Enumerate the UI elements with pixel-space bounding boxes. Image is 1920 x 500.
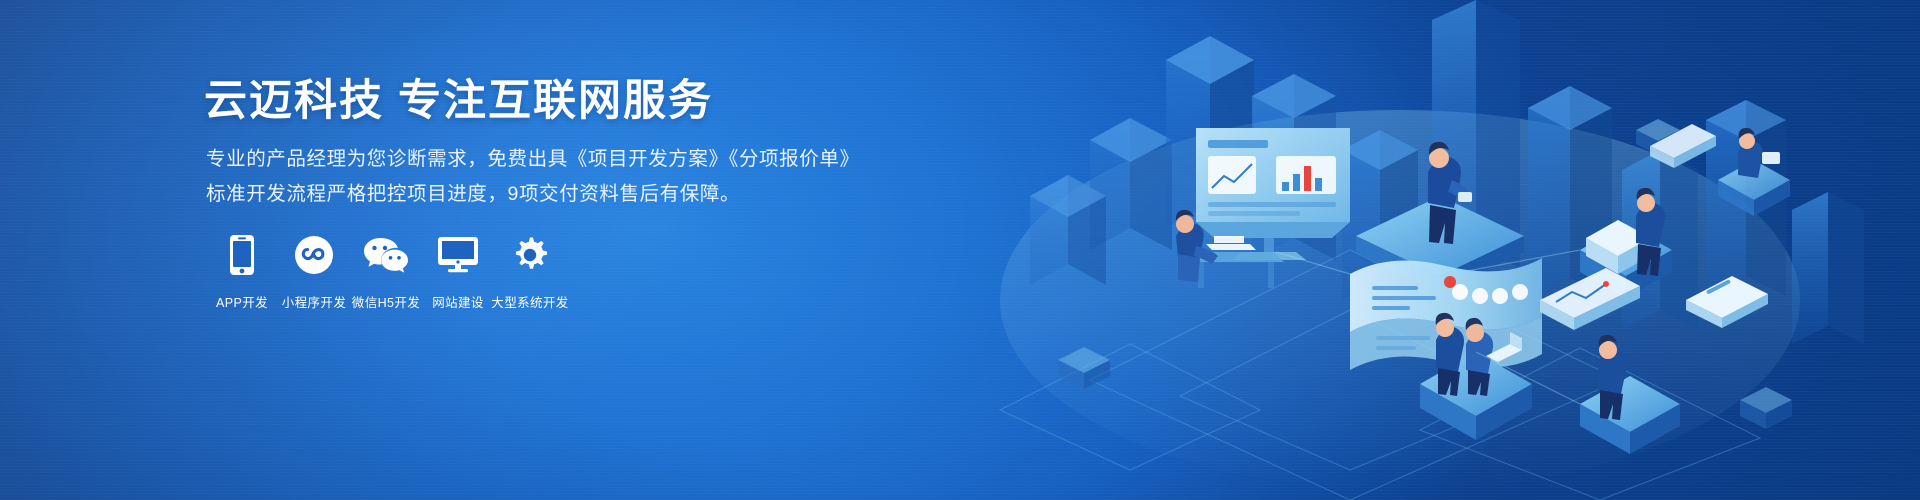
service-label: 大型系统开发 bbox=[491, 292, 568, 311]
service-item-website[interactable]: 网站建设 bbox=[422, 232, 494, 311]
service-label: 微信H5开发 bbox=[352, 292, 420, 311]
service-item-large-system[interactable]: 大型系统开发 bbox=[494, 232, 566, 311]
banner-subtitle-line-2: 标准开发流程严格把控项目进度，9项交付资料售后有保障。 bbox=[206, 183, 740, 206]
banner-content: 云迈科技 专注互联网服务 专业的产品经理为您诊断需求，免费出具《项目开发方案》《… bbox=[204, 0, 964, 500]
monitor-icon bbox=[437, 232, 479, 278]
service-item-mini-program[interactable]: 小程序开发 bbox=[278, 232, 350, 311]
mobile-phone-icon bbox=[229, 232, 255, 278]
mini-program-icon bbox=[294, 232, 334, 278]
banner-subtitle-line-1: 专业的产品经理为您诊断需求，免费出具《项目开发方案》《分项报价单》 bbox=[206, 148, 860, 171]
service-label: 小程序开发 bbox=[282, 292, 347, 311]
service-item-wechat-h5[interactable]: 微信H5开发 bbox=[350, 232, 422, 311]
service-list: APP开发 小程序开发 bbox=[206, 232, 566, 311]
hero-banner: 云迈科技 专注互联网服务 专业的产品经理为您诊断需求，免费出具《项目开发方案》《… bbox=[0, 0, 1920, 500]
service-label: 网站建设 bbox=[432, 292, 484, 311]
gear-icon bbox=[510, 232, 550, 278]
isometric-illustration bbox=[880, 0, 1920, 500]
banner-headline: 云迈科技 专注互联网服务 bbox=[204, 76, 713, 127]
service-label: APP开发 bbox=[216, 292, 268, 311]
service-item-app[interactable]: APP开发 bbox=[206, 232, 278, 311]
wechat-icon bbox=[363, 232, 409, 278]
